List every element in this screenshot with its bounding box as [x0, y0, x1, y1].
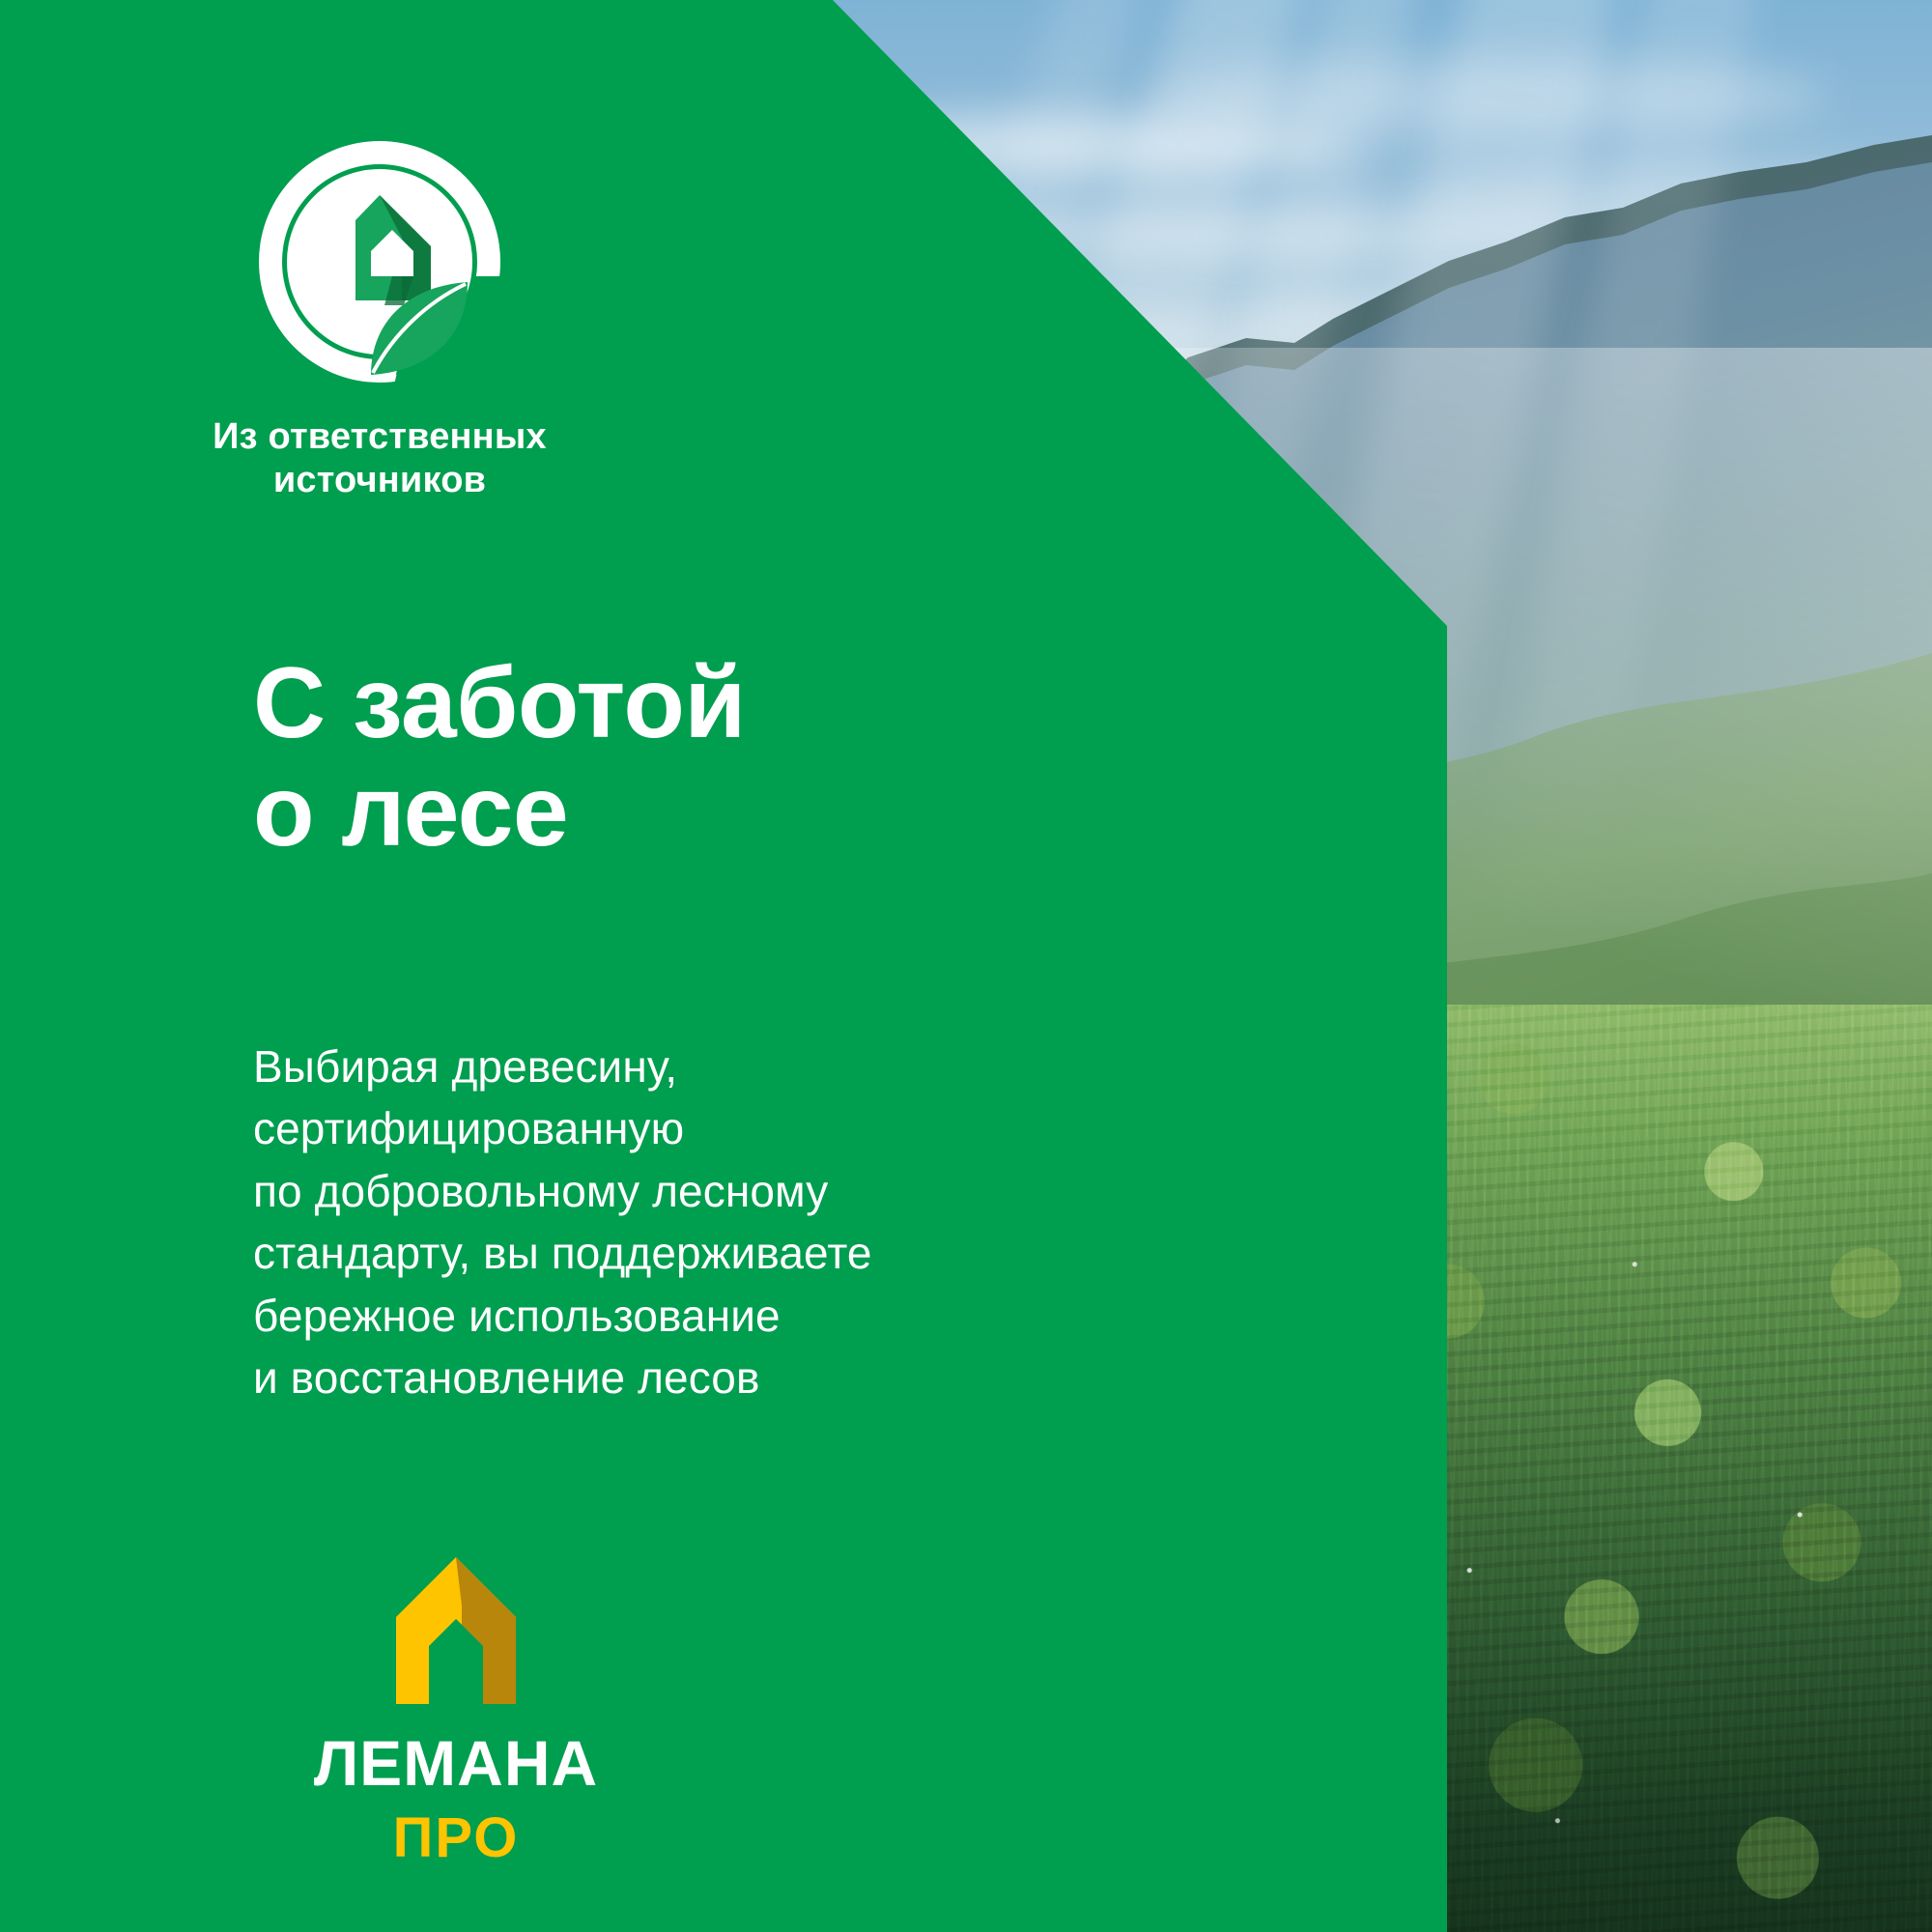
eco-house-leaf-circle-icon: [249, 131, 510, 392]
brand-wordmark-pro-text: ПРО: [393, 1806, 520, 1866]
lemana-pro-brand-lockup: ЛЕМАНА ПРО: [253, 1553, 659, 1866]
page-title: С заботой о лесе: [253, 649, 746, 867]
brand-wordmark-pro: ПРО: [335, 1806, 577, 1866]
lemana-house-icon: [369, 1553, 543, 1708]
poster-content: Из ответственных источников С заботой о …: [0, 0, 1449, 1932]
body-paragraph: Выбирая древесину, сертифицированную по …: [253, 1036, 872, 1408]
eco-certification-badge: Из ответственных источников: [249, 131, 510, 502]
poster-root: Из ответственных источников С заботой о …: [0, 0, 1932, 1932]
brand-wordmark-text: ЛЕМАНА: [314, 1729, 598, 1799]
brand-wordmark-lemana: ЛЕМАНА: [282, 1729, 630, 1799]
eco-badge-caption: Из ответственных источников: [201, 415, 558, 502]
